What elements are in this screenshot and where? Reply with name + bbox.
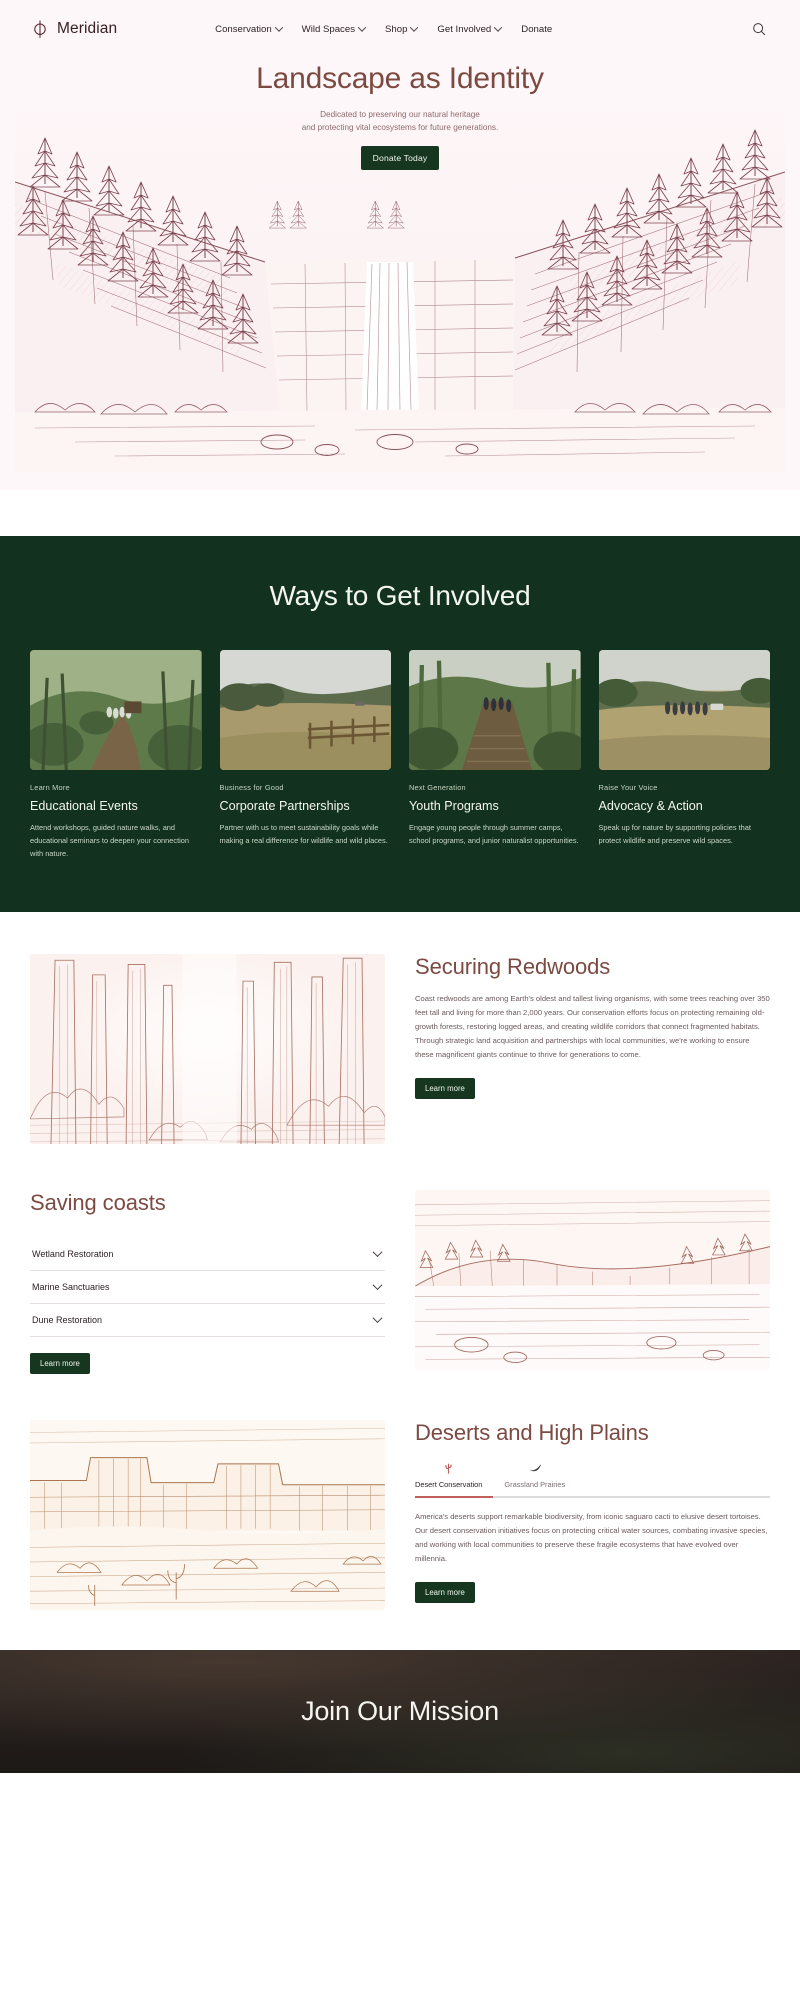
coasts-accordion: Wetland Restoration Marine Sanctuaries D… — [30, 1238, 385, 1337]
card-eyebrow: Next Generation — [409, 783, 581, 792]
redwoods-title: Securing Redwoods — [415, 954, 770, 979]
card-body: Attend workshops, guided nature walks, a… — [30, 822, 202, 860]
card-title: Youth Programs — [409, 799, 581, 813]
involved-card[interactable]: Business for Good Corporate Partnerships… — [220, 650, 392, 860]
redwoods-body: Coast redwoods are among Earth's oldest … — [415, 992, 770, 1062]
deserts-body: America's deserts support remarkable bio… — [415, 1510, 770, 1566]
brand-name: Meridian — [57, 20, 117, 38]
search-button[interactable] — [748, 18, 770, 40]
main-nav: Conservation Wild Spaces Shop Get Involv… — [215, 24, 552, 35]
nav-item-donate[interactable]: Donate — [521, 24, 552, 35]
redwoods-copy: Securing Redwoods Coast redwoods are amo… — [415, 954, 770, 1099]
card-body: Engage young people through summer camps… — [409, 822, 581, 847]
tab-desert-conservation[interactable]: Desert Conservation — [415, 1461, 482, 1498]
nav-item-shop[interactable]: Shop — [385, 24, 417, 35]
tab-label: Grassland Prairies — [504, 1480, 565, 1489]
chevron-down-icon — [373, 1280, 383, 1290]
coasts-copy: Saving coasts Wetland Restoration Marine… — [30, 1190, 385, 1373]
card-title: Corporate Partnerships — [220, 799, 392, 813]
coasts-section: Saving coasts Wetland Restoration Marine… — [30, 1190, 770, 1373]
get-involved-card-grid: Learn More Educational Events Attend wor… — [0, 650, 800, 860]
hikers-on-boardwalk-in-woods-photo — [409, 650, 581, 770]
card-eyebrow: Learn More — [30, 783, 202, 792]
coastal-cliffs-and-sea-line-drawing — [415, 1190, 770, 1370]
nav-label: Donate — [521, 24, 552, 35]
card-title: Advocacy & Action — [599, 799, 771, 813]
meadow-with-wooden-fence-photo — [220, 650, 392, 770]
nav-label: Wild Spaces — [302, 24, 355, 35]
nav-label: Conservation — [215, 24, 272, 35]
card-title: Educational Events — [30, 799, 202, 813]
deserts-title: Deserts and High Plains — [415, 1420, 770, 1445]
join-mission-footer: Join Our Mission — [0, 1650, 800, 1773]
chevron-down-icon — [410, 23, 418, 31]
group-gathering-in-open-field-photo — [599, 650, 771, 770]
hero-subtitle-line-2: and protecting vital ecosystems for futu… — [302, 123, 499, 132]
tab-label: Desert Conservation — [415, 1480, 482, 1489]
deserts-learn-more-button[interactable]: Learn more — [415, 1582, 475, 1603]
coasts-title: Saving coasts — [30, 1190, 385, 1215]
donate-today-button[interactable]: Donate Today — [361, 146, 440, 170]
chevron-down-icon — [494, 23, 502, 31]
accordion-item-marine-sanctuaries[interactable]: Marine Sanctuaries — [30, 1271, 385, 1304]
tab-grassland-prairies[interactable]: Grassland Prairies — [504, 1461, 565, 1498]
involved-card[interactable]: Learn More Educational Events Attend wor… — [30, 650, 202, 860]
nav-label: Get Involved — [437, 24, 491, 35]
chevron-down-icon — [358, 23, 366, 31]
meridian-circle-logo-icon — [30, 19, 50, 39]
deserts-section: Deserts and High Plains Desert Conservat… — [30, 1420, 770, 1610]
bird-icon — [528, 1461, 542, 1474]
chevron-down-icon — [274, 23, 282, 31]
redwoods-section: Securing Redwoods Coast redwoods are amo… — [30, 954, 770, 1144]
chevron-down-icon — [373, 1313, 383, 1323]
get-involved-heading: Ways to Get Involved — [0, 580, 800, 612]
card-body: Speak up for nature by supporting polici… — [599, 822, 771, 847]
coasts-learn-more-button[interactable]: Learn more — [30, 1353, 90, 1374]
brand-logo[interactable]: Meridian — [30, 19, 117, 39]
redwood-grove-line-drawing — [30, 954, 385, 1144]
footer-heading: Join Our Mission — [301, 1696, 499, 1727]
involved-card[interactable]: Next Generation Youth Programs Engage yo… — [409, 650, 581, 860]
hero-subtitle-line-1: Dedicated to preserving our natural heri… — [320, 110, 480, 119]
hero-section: Meridian Conservation Wild Spaces Shop G… — [0, 0, 800, 490]
hero-title: Landscape as Identity — [0, 62, 800, 96]
forest-trail-with-group-photo — [30, 650, 202, 770]
involved-card[interactable]: Raise Your Voice Advocacy & Action Speak… — [599, 650, 771, 860]
search-icon — [752, 22, 766, 36]
nav-item-conservation[interactable]: Conservation — [215, 24, 282, 35]
nav-item-wild-spaces[interactable]: Wild Spaces — [302, 24, 365, 35]
conservation-sections: Securing Redwoods Coast redwoods are amo… — [0, 912, 800, 1649]
redwoods-learn-more-button[interactable]: Learn more — [415, 1078, 475, 1099]
cactus-icon — [443, 1461, 454, 1474]
accordion-label: Dune Restoration — [32, 1315, 102, 1325]
tab-underline-indicator — [415, 1496, 770, 1498]
deserts-copy: Deserts and High Plains Desert Conservat… — [415, 1420, 770, 1603]
hero-copy: Landscape as Identity Dedicated to prese… — [0, 58, 800, 170]
accordion-label: Wetland Restoration — [32, 1249, 113, 1259]
site-header: Meridian Conservation Wild Spaces Shop G… — [0, 0, 800, 58]
accordion-label: Marine Sanctuaries — [32, 1282, 110, 1292]
accordion-item-dune-restoration[interactable]: Dune Restoration — [30, 1304, 385, 1337]
card-body: Partner with us to meet sustainability g… — [220, 822, 392, 847]
desert-mesa-canyon-line-drawing — [30, 1420, 385, 1610]
hero-subtitle: Dedicated to preserving our natural heri… — [0, 108, 800, 135]
card-eyebrow: Business for Good — [220, 783, 392, 792]
card-eyebrow: Raise Your Voice — [599, 783, 771, 792]
nav-label: Shop — [385, 24, 407, 35]
get-involved-section: Ways to Get Involved — [0, 536, 800, 912]
nav-item-get-involved[interactable]: Get Involved — [437, 24, 501, 35]
accordion-item-wetland-restoration[interactable]: Wetland Restoration — [30, 1238, 385, 1271]
deserts-tablist: Desert Conservation Grassland Prairies — [415, 1461, 770, 1498]
chevron-down-icon — [373, 1247, 383, 1257]
